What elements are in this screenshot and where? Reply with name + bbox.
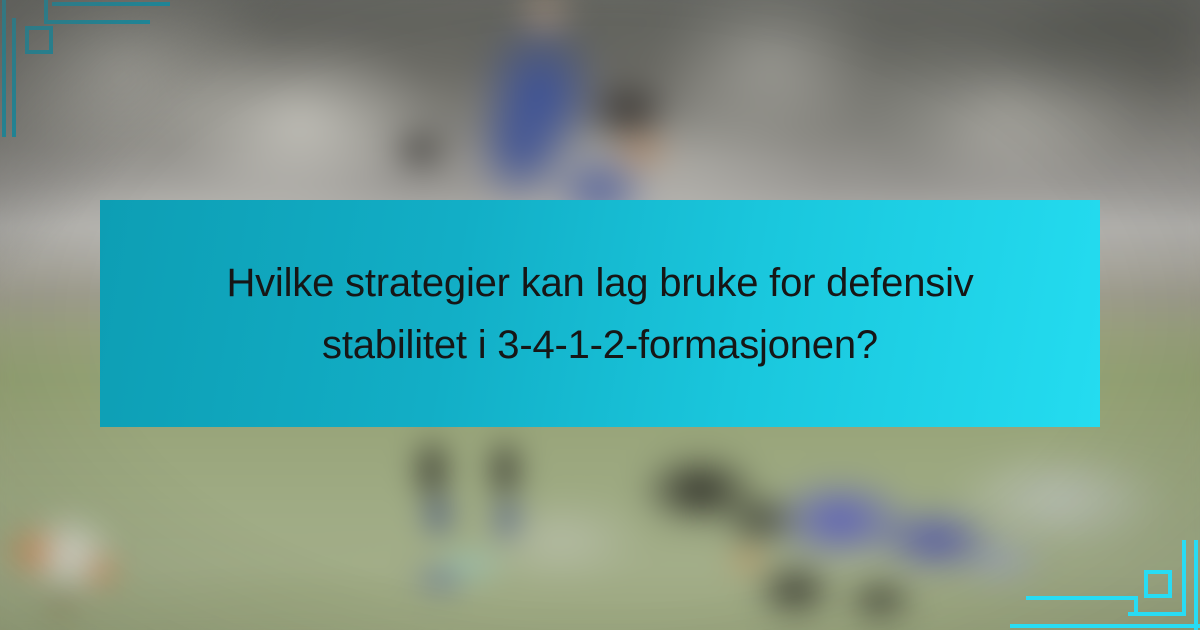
- page-title: Hvilke strategier kan lag bruke for defe…: [100, 252, 1100, 376]
- quote-card: Hvilke strategier kan lag bruke for defe…: [0, 0, 1200, 630]
- headline-banner: Hvilke strategier kan lag bruke for defe…: [100, 200, 1100, 427]
